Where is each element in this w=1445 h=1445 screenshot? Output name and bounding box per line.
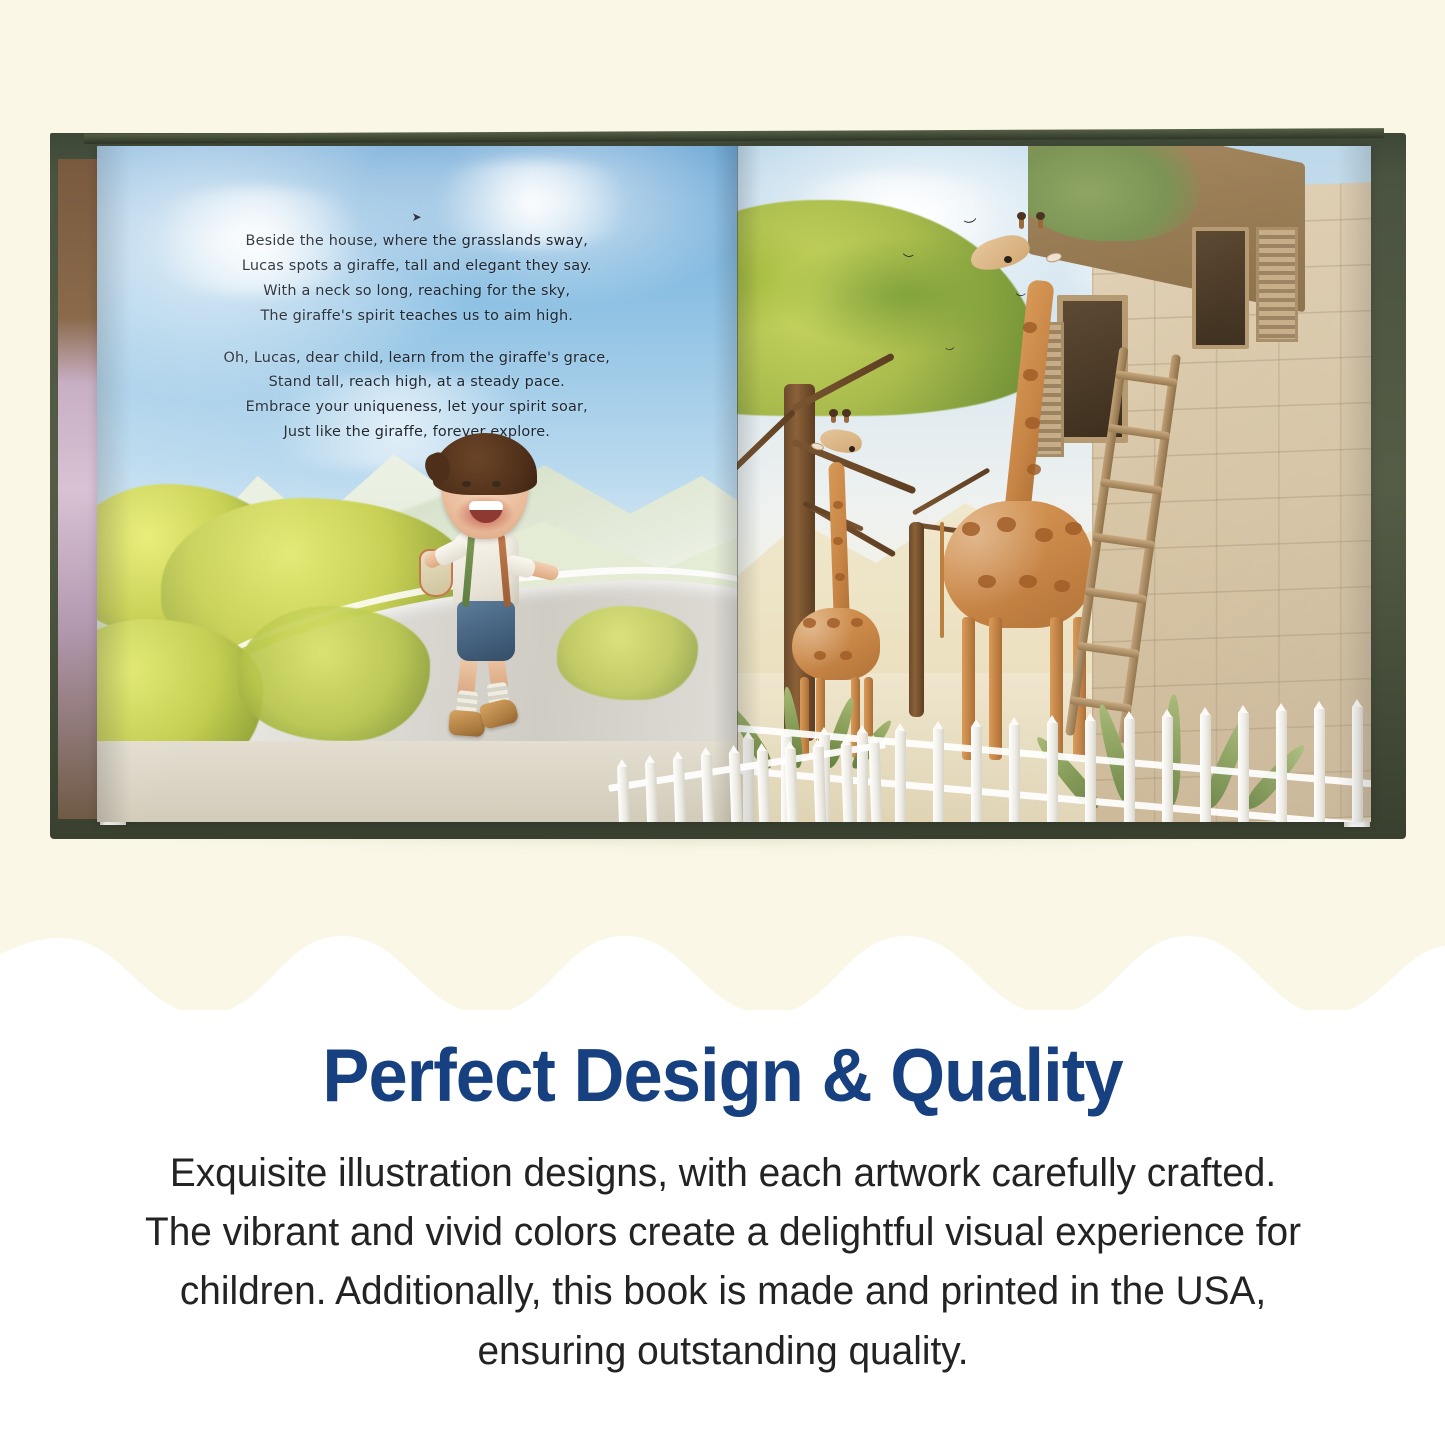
fence-picket xyxy=(971,726,982,822)
giraffe-horn xyxy=(1019,217,1024,229)
giraffe-patch xyxy=(997,517,1016,532)
giraffe-patch xyxy=(835,573,845,581)
poem-stanza-2: Oh, Lucas, dear child, learn from the gi… xyxy=(123,346,711,445)
fence-picket xyxy=(617,766,630,822)
giraffe-patch xyxy=(1054,580,1070,592)
poem-line: Beside the house, where the grasslands s… xyxy=(123,229,711,254)
fence-picket xyxy=(1085,720,1096,822)
poem-line: The giraffe's spirit teaches us to aim h… xyxy=(123,304,711,329)
fence-picket xyxy=(869,742,883,822)
fence-picket xyxy=(645,762,658,822)
ladder-rung xyxy=(1092,533,1155,550)
wave-divider xyxy=(0,892,1445,1010)
giraffe-head xyxy=(819,426,864,455)
boy-character xyxy=(417,443,557,743)
poem-text-block: ➤ Beside the house, where the grasslands… xyxy=(123,207,711,445)
fence-picket xyxy=(1047,722,1058,822)
bird-icon: ︶ xyxy=(964,219,979,234)
headline: Perfect Design & Quality xyxy=(43,1032,1401,1118)
fence-picket xyxy=(757,750,771,822)
bird-icon: ︶ xyxy=(901,253,913,265)
ladder-rung xyxy=(1100,478,1163,495)
house-window xyxy=(1192,227,1249,349)
fence-picket xyxy=(1009,724,1020,822)
poem-line: Oh, Lucas, dear child, learn from the gi… xyxy=(123,346,711,371)
giraffe-patch xyxy=(1025,417,1040,429)
bird-icon: ︶ xyxy=(945,348,955,358)
fence-picket xyxy=(933,728,944,822)
giraffe-neck xyxy=(1003,279,1054,523)
giraffe-patch xyxy=(1027,464,1041,475)
open-book: ➤ Beside the house, where the grasslands… xyxy=(44,133,1412,843)
fence-picket xyxy=(1162,716,1173,822)
fence-picket xyxy=(729,752,742,822)
poem-line: Just like the giraffe, forever explore. xyxy=(123,420,711,445)
boy-hair xyxy=(433,433,537,495)
fence-picket xyxy=(701,754,714,822)
giraffe-patch xyxy=(1035,528,1053,542)
fence-picket xyxy=(1238,712,1249,822)
left-page-curve-shade xyxy=(97,146,131,822)
ladder-rung xyxy=(1107,424,1170,441)
fence-picket xyxy=(841,744,855,822)
window-shutter xyxy=(1256,227,1299,342)
poem-line: Embrace your uniqueness, let your spirit… xyxy=(123,395,711,420)
poem-stanza-1: Beside the house, where the grasslands s… xyxy=(123,229,711,328)
tree-bush xyxy=(238,606,430,741)
right-page-curve-shade xyxy=(1337,146,1371,822)
boy-boot xyxy=(478,697,519,730)
fence-picket xyxy=(895,730,906,822)
giraffe-horn xyxy=(831,414,836,423)
bird-icon: ︶ xyxy=(1016,295,1026,305)
body-paragraph: Exquisite illustration designs, with eac… xyxy=(141,1144,1305,1381)
fence-picket xyxy=(673,758,686,822)
poem-leading-mark: ➤ xyxy=(123,207,711,228)
giraffe-horn xyxy=(1038,217,1043,229)
giraffe-eye xyxy=(849,446,855,452)
boy-denim-shorts xyxy=(457,601,515,661)
poem-line: Lucas spots a giraffe, tall and elegant … xyxy=(123,254,711,279)
fence-picket xyxy=(1124,718,1135,822)
giraffe-patch xyxy=(978,575,996,588)
fence-picket xyxy=(1200,714,1211,822)
giraffe-ear xyxy=(1045,252,1063,265)
picket-fence-left xyxy=(607,673,887,822)
giraffe-horn xyxy=(844,414,849,423)
fence-picket xyxy=(1276,710,1287,822)
poem-line: With a neck so long, reaching for the sk… xyxy=(123,279,711,304)
marketing-copy-section: Perfect Design & Quality Exquisite illus… xyxy=(0,1010,1445,1445)
ladder-rung xyxy=(1115,370,1178,387)
poem-line: Stand tall, reach high, at a steady pace… xyxy=(123,370,711,395)
hero-section: ➤ Beside the house, where the grasslands… xyxy=(0,0,1445,1010)
book-spread: ➤ Beside the house, where the grasslands… xyxy=(97,146,1371,822)
giraffe-head xyxy=(967,230,1033,275)
fence-picket xyxy=(1314,708,1325,822)
